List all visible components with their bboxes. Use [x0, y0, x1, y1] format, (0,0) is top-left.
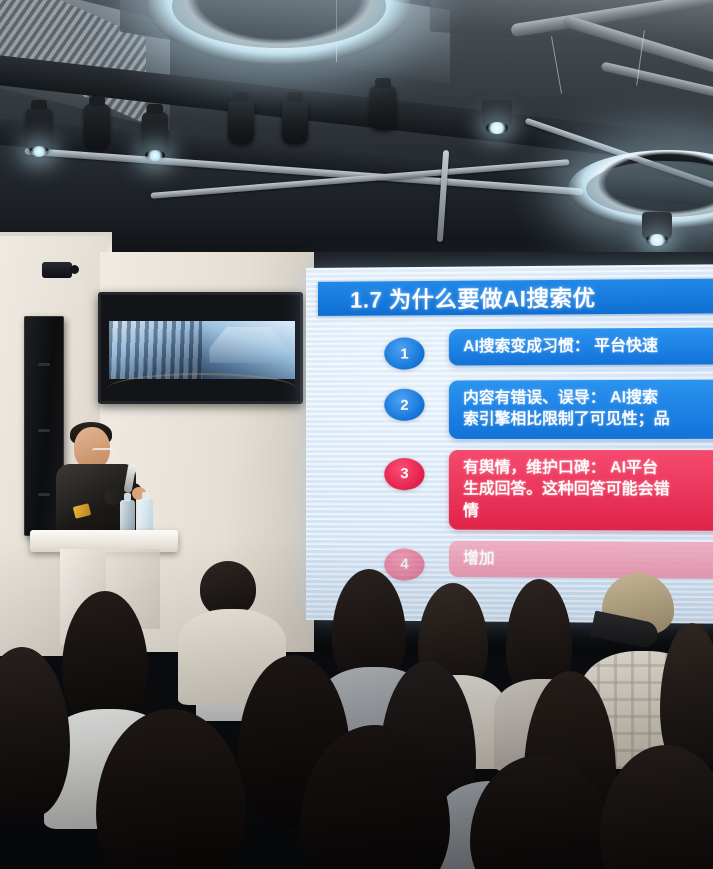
track-spotlight-icon: [26, 108, 52, 152]
monitor-feed-right: [202, 321, 295, 379]
bullet-line: AI搜索变成习惯： 平台快速: [463, 335, 713, 358]
pendant-light-under-ring-icon: [642, 212, 672, 240]
hair: [0, 647, 70, 817]
light-suspension-wire: [551, 36, 562, 93]
slide-bullet-item: 3 有舆情，维护口碑： AI平台 生成回答。这种回答可能会错 情: [318, 450, 713, 531]
presentation-photo-scene: 1.7 为什么要做AI搜索优 1 AI搜索变成习惯： 平台快速 2 内容有错误、…: [0, 0, 713, 869]
track-spotlight-icon: [370, 86, 396, 130]
water-bottle-icon: [120, 500, 135, 534]
track-spotlight-icon: [282, 100, 308, 144]
bullet-card: 内容有错误、误导： AI搜索 索引擎相比限制了可见性；品: [449, 380, 713, 439]
audience: [0, 539, 713, 869]
bullet-line: 情: [463, 500, 713, 523]
bullet-card: 有舆情，维护口碑： AI平台 生成回答。这种回答可能会错 情: [449, 450, 713, 531]
monitor-screen: [109, 321, 295, 379]
bullet-line: 生成回答。这种回答可能会错: [463, 478, 713, 500]
industrial-ceiling: [0, 0, 713, 268]
pendant-light-icon: [482, 100, 512, 128]
bullet-number-badge: 2: [384, 389, 424, 421]
track-spotlight-icon: [228, 100, 254, 144]
bullet-card: AI搜索变成习惯： 平台快速: [449, 328, 713, 366]
monitor-feed-left: [109, 321, 202, 379]
bullet-number-badge: 3: [384, 458, 424, 490]
ceiling-camera-icon: [42, 262, 72, 278]
hair: [62, 591, 148, 727]
bullet-line: 内容有错误、误导： AI搜索: [463, 387, 713, 409]
glasses-icon: [92, 448, 114, 455]
water-bottle-icon: [138, 499, 153, 533]
slide-title-text: 1.7 为什么要做AI搜索优: [350, 281, 596, 315]
bullet-number-badge: 1: [384, 337, 424, 369]
ring-light-fixture-right: [568, 150, 713, 228]
wall-monitor[interactable]: [98, 292, 303, 404]
track-spotlight-icon: [84, 104, 110, 148]
track-spotlight-icon: [142, 112, 168, 156]
slide-title-bar: 1.7 为什么要做AI搜索优: [318, 278, 713, 316]
bullet-line: 索引擎相比限制了可见性；品: [463, 409, 713, 431]
slide-bullet-item: 1 AI搜索变成习惯： 平台快速: [318, 328, 713, 370]
bullet-line: 有舆情，维护口碑： AI平台: [463, 457, 713, 479]
slide-bullet-item: 2 内容有错误、误导： AI搜索 索引擎相比限制了可见性；品: [318, 380, 713, 439]
